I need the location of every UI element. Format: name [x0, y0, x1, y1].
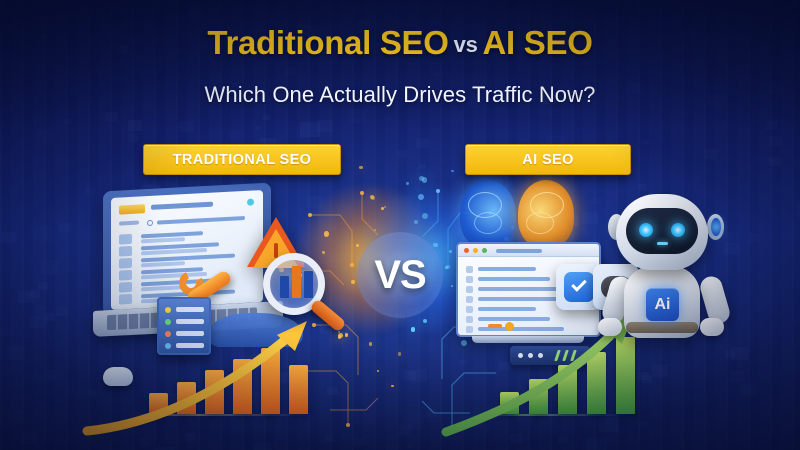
banner-canvas: VS: [0, 0, 800, 450]
background-vignette: [0, 0, 800, 450]
